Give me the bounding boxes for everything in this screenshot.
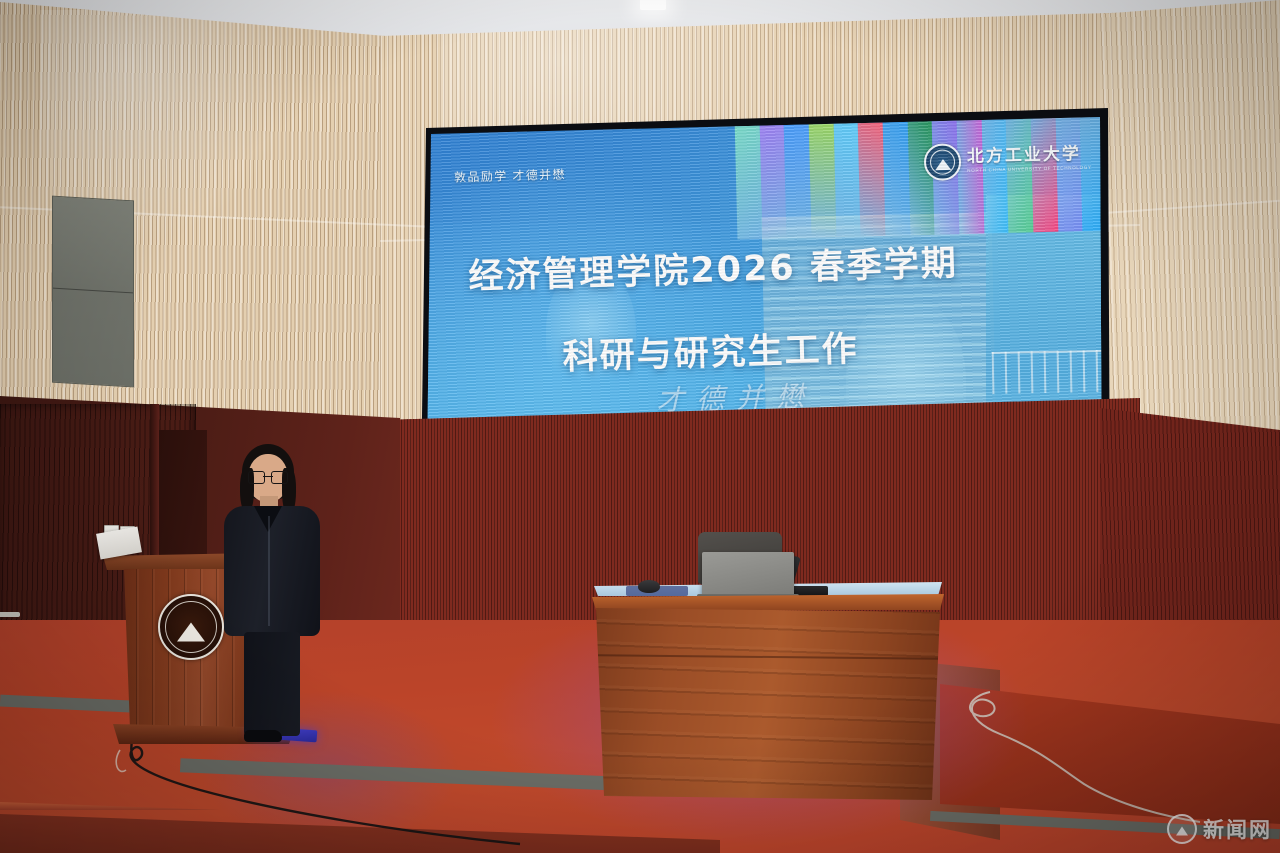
presenter-placket xyxy=(268,516,270,626)
computer-mouse[interactable] xyxy=(638,580,660,593)
news-seal-icon xyxy=(1167,814,1197,844)
presenter xyxy=(218,444,326,744)
desk-top xyxy=(592,594,944,610)
photo-tile xyxy=(759,118,787,239)
photo-tile xyxy=(833,117,861,238)
ceiling-light xyxy=(640,0,666,10)
university-name-cn: 北方工业大学 xyxy=(967,145,1092,166)
eyeglasses-icon xyxy=(248,471,288,482)
photo-tile xyxy=(809,117,837,238)
photo-tile xyxy=(883,115,911,236)
lecture-hall-photo: 敦品励学 才德并懋 北方工业大学 NORTH CHINA UNIVERSITY … xyxy=(0,0,1280,853)
speech-notes xyxy=(96,527,142,560)
university-seal-icon xyxy=(924,143,962,181)
university-emblem-icon xyxy=(158,594,224,660)
presenter-jacket xyxy=(224,506,320,636)
laptop[interactable] xyxy=(702,552,794,596)
presenter-shoe xyxy=(244,730,282,742)
desk-front-panel xyxy=(596,608,940,800)
presenter-legs xyxy=(244,632,300,736)
air-vent-panel xyxy=(52,196,134,388)
watermark-text: 新闻网 xyxy=(1203,814,1272,844)
university-logo: 北方工业大学 NORTH CHINA UNIVERSITY OF TECHNOL… xyxy=(923,135,1084,185)
desk-wood-grain xyxy=(596,608,940,800)
presentation-desk xyxy=(592,594,944,806)
photo-tile xyxy=(784,118,812,239)
door-handle[interactable] xyxy=(0,612,20,617)
slide-slogan: 敦品励学 才德并懋 xyxy=(454,166,566,186)
photo-tile xyxy=(735,119,763,240)
photo-tile xyxy=(858,116,886,237)
watermark: 新闻网 xyxy=(1167,814,1272,844)
right-upper-wall xyxy=(1100,0,1280,440)
